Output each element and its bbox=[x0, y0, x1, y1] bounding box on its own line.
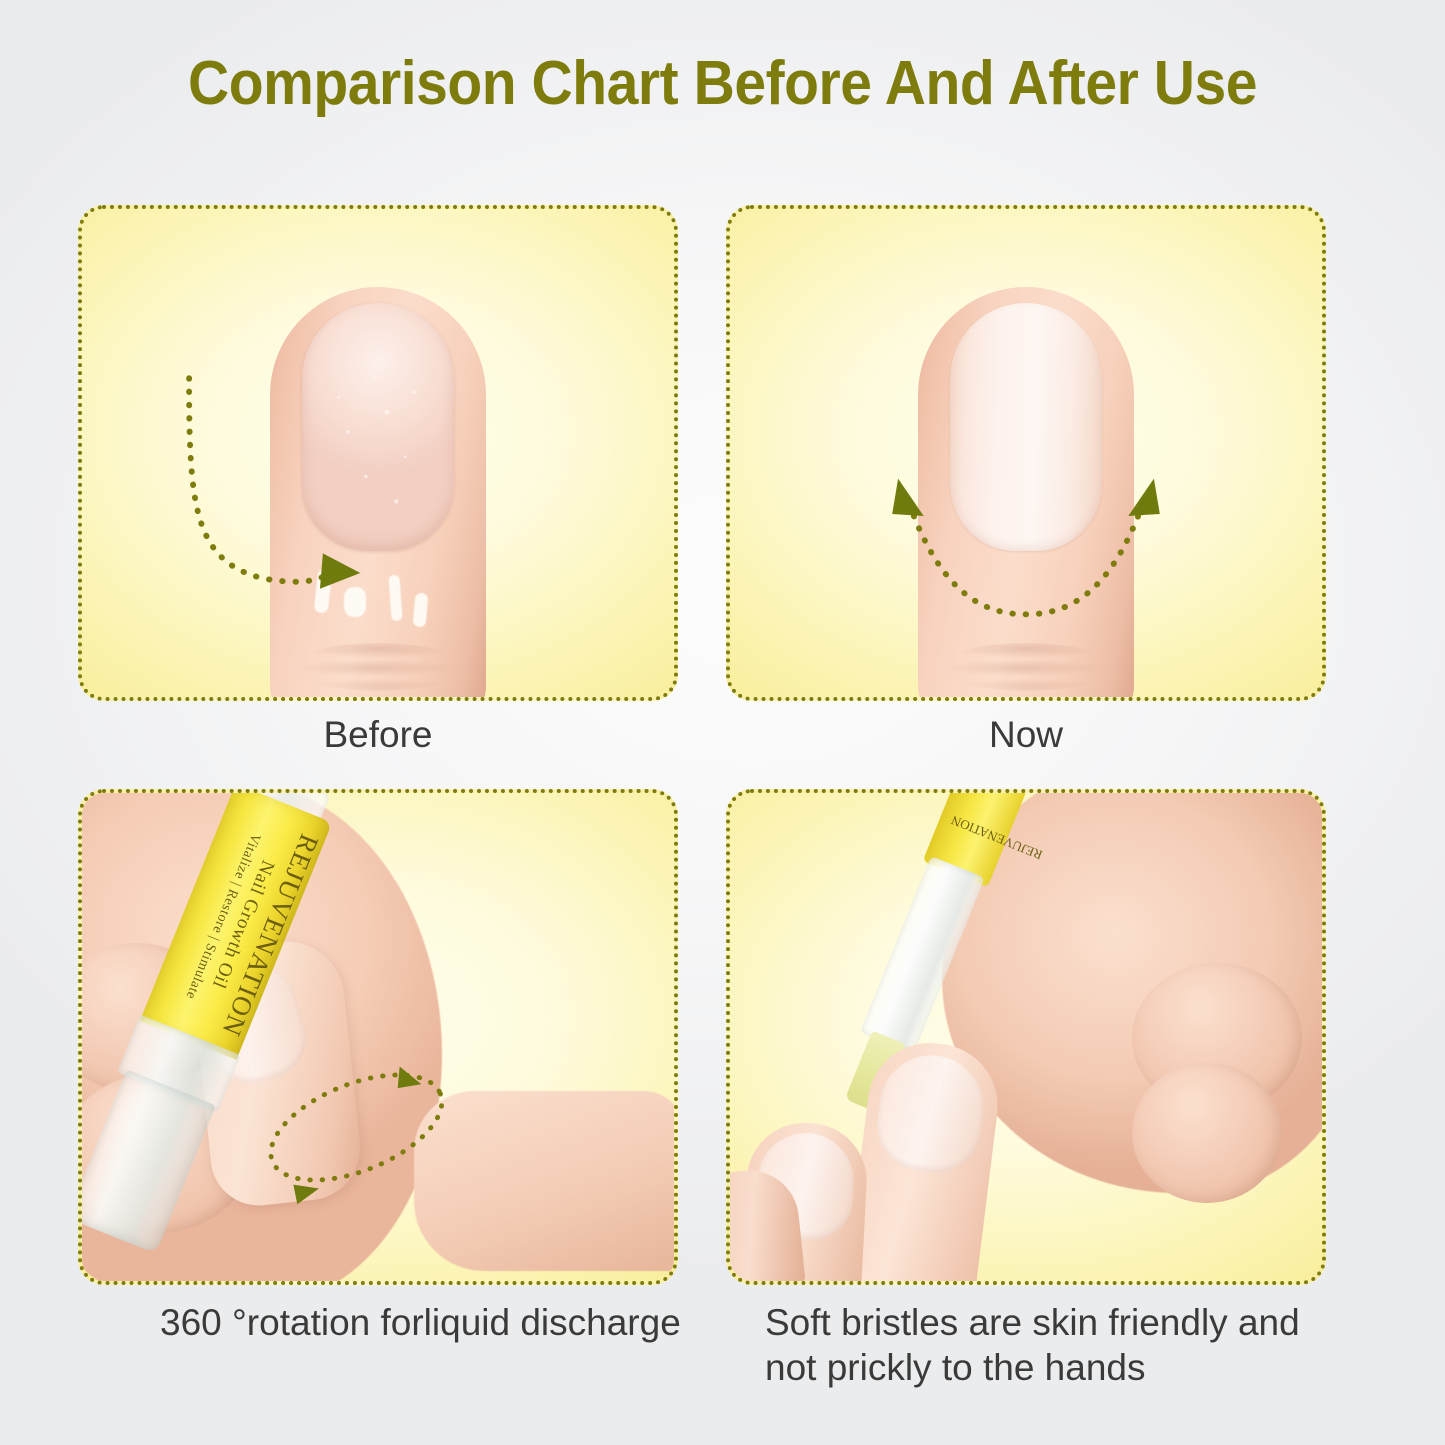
finger-illustration bbox=[918, 287, 1134, 701]
knuckle bbox=[1132, 1063, 1282, 1203]
cuticle-flake bbox=[314, 568, 333, 613]
healthy-nail bbox=[950, 303, 1102, 551]
caption-bristles: Soft bristles are skin friendly and not … bbox=[765, 1300, 1345, 1390]
panel-rotation: REJUVENATION Nail Growth Oil Vitalize | … bbox=[78, 789, 678, 1285]
panel-bristles: REJUVENATION bbox=[726, 789, 1326, 1285]
bristles-photo: REJUVENATION bbox=[730, 793, 1322, 1281]
damaged-nail bbox=[302, 303, 454, 551]
page-title: Comparison Chart Before And After Use bbox=[58, 48, 1387, 119]
caption-rotation: 360 °rotation forliquid discharge bbox=[160, 1300, 700, 1345]
cuticle-flake bbox=[344, 587, 366, 617]
caption-now: Now bbox=[726, 712, 1326, 757]
panel-before bbox=[78, 205, 678, 701]
finger-illustration bbox=[270, 287, 486, 701]
cuticle-flake bbox=[413, 592, 429, 627]
rotation-photo: REJUVENATION Nail Growth Oil Vitalize | … bbox=[82, 793, 674, 1281]
panel-now bbox=[726, 205, 1326, 701]
cuticle-flake bbox=[388, 575, 402, 622]
supporting-finger bbox=[414, 1091, 678, 1271]
product-brand: REJUVENATION bbox=[949, 813, 1044, 863]
before-photo bbox=[82, 209, 674, 697]
target-nail bbox=[872, 1049, 989, 1177]
caption-before: Before bbox=[78, 712, 678, 757]
now-photo bbox=[730, 209, 1322, 697]
